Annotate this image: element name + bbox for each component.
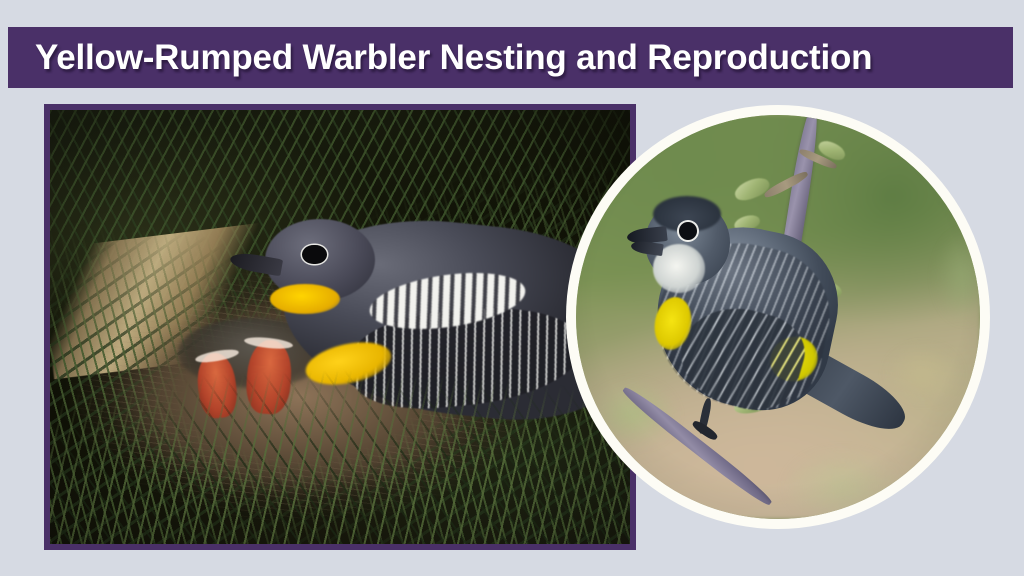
nest-photo xyxy=(50,110,630,544)
warbler-circle-frame xyxy=(566,105,990,529)
page-title: Yellow-Rumped Warbler Nesting and Reprod… xyxy=(8,38,872,78)
photo-vignette xyxy=(576,115,980,519)
title-banner: Yellow-Rumped Warbler Nesting and Reprod… xyxy=(8,27,1013,88)
warbler-circle-photo xyxy=(576,115,980,519)
nest-photo-frame xyxy=(44,104,636,550)
photo-vignette xyxy=(50,110,630,544)
